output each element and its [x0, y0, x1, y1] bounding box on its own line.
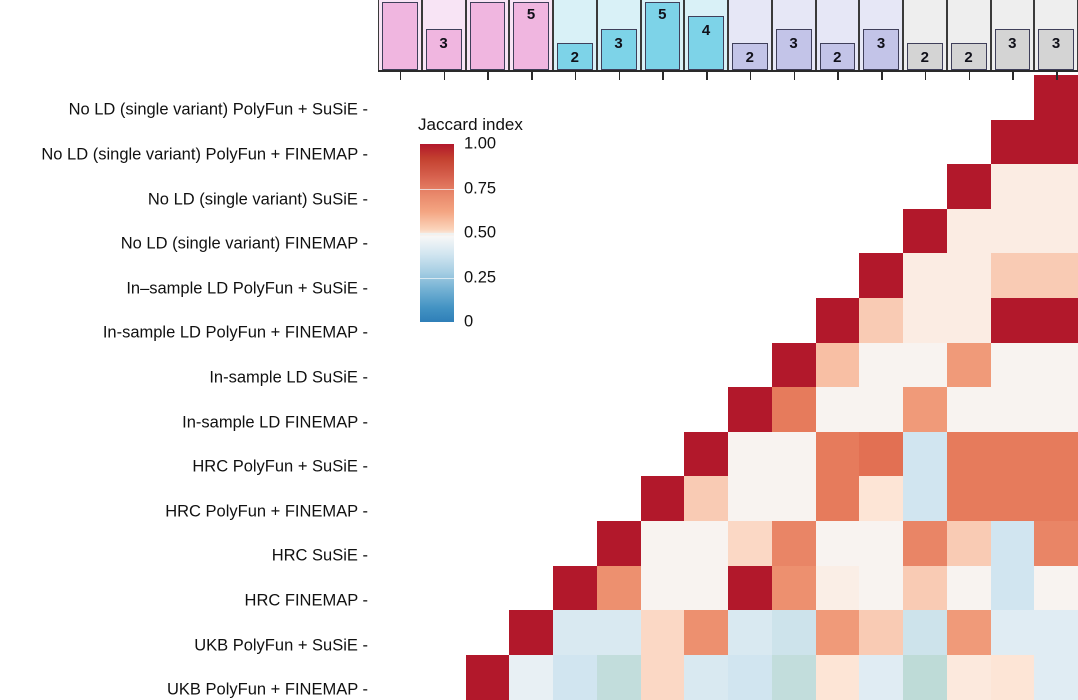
y-axis-label-dash: -: [358, 145, 368, 163]
heatmap-cell: [816, 298, 860, 343]
bar-column: 2: [728, 0, 772, 70]
y-axis-label-text: UKB PolyFun + FINEMAP: [167, 681, 358, 699]
x-axis-tick: [1056, 71, 1058, 80]
colorbar-tick-label: 0.75: [464, 179, 496, 198]
heatmap-cell: [903, 521, 947, 566]
bar-column: 5: [641, 0, 685, 70]
heatmap-cell: [641, 566, 685, 611]
heatmap-cell: [947, 566, 991, 611]
heatmap-cell: [859, 343, 903, 388]
heatmap-cell: [1034, 120, 1078, 165]
x-axis-tick: [444, 71, 446, 80]
heatmap-cell: [641, 655, 685, 700]
bar-column: 3: [1034, 0, 1078, 70]
heatmap-cell: [772, 343, 816, 388]
heatmap-cell: [728, 610, 772, 655]
y-axis-labels: No LD (single variant) PolyFun + SuSiE -…: [0, 75, 372, 700]
heatmap-cell: [903, 610, 947, 655]
y-axis-label-dash: -: [358, 636, 368, 654]
colorbar-tick-label: 1.00: [464, 135, 496, 154]
heatmap-cell: [728, 387, 772, 432]
heatmap-cell: [947, 343, 991, 388]
y-axis-label-dash: -: [358, 413, 368, 431]
heatmap-cell: [903, 298, 947, 343]
y-axis-label-dash: -: [358, 502, 368, 520]
heatmap-cell: [991, 387, 1035, 432]
y-axis-label-text: HRC FINEMAP: [245, 591, 358, 609]
y-axis-label-text: UKB PolyFun + SuSiE: [194, 636, 358, 654]
bar: [382, 2, 418, 70]
heatmap-cell: [903, 387, 947, 432]
heatmap-cell: [728, 566, 772, 611]
heatmap-cell: [1034, 387, 1078, 432]
y-axis-label-dash: -: [358, 279, 368, 297]
heatmap-cell: [947, 253, 991, 298]
bar-column: 2: [903, 0, 947, 70]
y-axis-label-dash: -: [358, 547, 368, 565]
bar-column: 3: [991, 0, 1035, 70]
heatmap-cell: [553, 610, 597, 655]
bar: 2: [907, 43, 943, 70]
bar-value-label: 3: [877, 36, 886, 51]
y-axis-label-dash: -: [358, 190, 368, 208]
bar: 3: [776, 29, 812, 70]
x-axis-tick: [794, 71, 796, 80]
heatmap-cell: [859, 298, 903, 343]
bar-value-label: 3: [1052, 36, 1061, 51]
heatmap-cell: [1034, 432, 1078, 477]
heatmap-cell: [816, 655, 860, 700]
bar-value-label: 2: [921, 50, 930, 65]
bar: 2: [732, 43, 768, 70]
heatmap-cell: [728, 476, 772, 521]
heatmap-cell: [947, 298, 991, 343]
y-axis-label: No LD (single variant) PolyFun + FINEMAP…: [41, 145, 368, 164]
bar-value-label: 4: [702, 23, 711, 38]
x-axis-tick: [575, 71, 577, 80]
bar-value-label: 3: [1008, 36, 1017, 51]
heatmap-cell: [903, 343, 947, 388]
heatmap-cell: [1034, 209, 1078, 254]
y-axis-label: In-sample LD FINEMAP -: [182, 413, 368, 432]
y-axis-label: UKB PolyFun + FINEMAP -: [167, 681, 368, 700]
heatmap-cell: [509, 610, 553, 655]
x-axis-tick: [881, 71, 883, 80]
bar-column: 2: [947, 0, 991, 70]
upset-jaccard-figure: 35235423232233 No LD (single variant) Po…: [0, 0, 1078, 700]
y-axis-label: In–sample LD PolyFun + SuSiE -: [126, 279, 368, 298]
bar: 3: [601, 29, 637, 70]
heatmap-cell: [991, 120, 1035, 165]
y-axis-label-dash: -: [358, 368, 368, 386]
bar-value-label: 3: [789, 36, 798, 51]
x-axis-tick: [487, 71, 489, 80]
heatmap-cell: [859, 610, 903, 655]
heatmap-cell: [947, 655, 991, 700]
heatmap-cell: [991, 521, 1035, 566]
y-axis-label-text: HRC PolyFun + SuSiE: [192, 458, 358, 476]
heatmap-cell: [641, 521, 685, 566]
x-axis-tick: [837, 71, 839, 80]
heatmap-cell: [947, 164, 991, 209]
bar-column: 5: [509, 0, 553, 70]
bar: 5: [513, 2, 549, 70]
heatmap-cell: [772, 610, 816, 655]
heatmap-cell: [816, 521, 860, 566]
heatmap-cell: [947, 387, 991, 432]
heatmap-cell: [947, 521, 991, 566]
y-axis-label: HRC SuSiE -: [272, 547, 368, 566]
x-axis-tick: [400, 71, 402, 80]
y-axis-label-dash: -: [358, 591, 368, 609]
heatmap-cell: [772, 655, 816, 700]
heatmap-cell: [772, 387, 816, 432]
heatmap-cell: [1034, 253, 1078, 298]
heatmap-cell: [684, 655, 728, 700]
bar: 3: [426, 29, 462, 70]
heatmap-cell: [597, 610, 641, 655]
y-axis-label: UKB PolyFun + SuSiE -: [194, 636, 368, 655]
top-bar-chart: 35235423232233: [378, 0, 1078, 70]
bar-value-label: 2: [833, 50, 842, 65]
heatmap-cell: [684, 432, 728, 477]
heatmap-cell: [991, 343, 1035, 388]
heatmap-cell: [1034, 164, 1078, 209]
heatmap-cell: [991, 164, 1035, 209]
heatmap-cell: [728, 432, 772, 477]
heatmap-cell: [772, 476, 816, 521]
heatmap-cell: [816, 610, 860, 655]
bar-value-label: 3: [614, 36, 623, 51]
heatmap-cell: [816, 432, 860, 477]
heatmap-cell: [1034, 610, 1078, 655]
y-axis-label-text: In-sample LD SuSiE: [209, 368, 358, 386]
x-axis-tick: [969, 71, 971, 80]
heatmap-cell: [859, 476, 903, 521]
x-axis-tick: [925, 71, 927, 80]
heatmap-cell: [903, 655, 947, 700]
heatmap-cell: [728, 521, 772, 566]
heatmap-cell: [1034, 343, 1078, 388]
y-axis-label-text: No LD (single variant) SuSiE: [148, 190, 358, 208]
heatmap-cell: [1034, 476, 1078, 521]
y-axis-label: HRC PolyFun + FINEMAP -: [165, 502, 368, 521]
heatmap-cell: [1034, 566, 1078, 611]
y-axis-label: In-sample LD PolyFun + FINEMAP -: [103, 324, 368, 343]
colorbar-tick-label: 0.25: [464, 268, 496, 287]
heatmap-cell: [772, 566, 816, 611]
y-axis-label-text: No LD (single variant) FINEMAP: [121, 235, 358, 253]
heatmap-cell: [991, 298, 1035, 343]
x-axis-line: [378, 70, 1078, 72]
legend-title: Jaccard index: [418, 115, 523, 135]
heatmap-cell: [991, 209, 1035, 254]
bar: 3: [995, 29, 1031, 70]
y-axis-label: No LD (single variant) PolyFun + SuSiE -: [69, 101, 368, 120]
bar-value-label: 5: [658, 7, 667, 22]
heatmap-cell: [684, 521, 728, 566]
y-axis-label-dash: -: [358, 101, 368, 119]
bar: [470, 2, 506, 70]
bar: 2: [820, 43, 856, 70]
heatmap-cell: [509, 655, 553, 700]
heatmap-cell: [991, 655, 1035, 700]
colorbar-tick-label: 0.50: [464, 224, 496, 243]
heatmap-cell: [859, 655, 903, 700]
y-axis-label-text: No LD (single variant) PolyFun + SuSiE: [69, 101, 358, 119]
bar-column: 3: [859, 0, 903, 70]
bar: 3: [1038, 29, 1074, 70]
heatmap-cell: [903, 209, 947, 254]
heatmap-cell: [816, 343, 860, 388]
bar-column: 4: [684, 0, 728, 70]
heatmap-cell: [903, 476, 947, 521]
heatmap-cell: [597, 655, 641, 700]
heatmap-cell: [816, 566, 860, 611]
x-axis-tick: [1012, 71, 1014, 80]
x-axis-tick: [706, 71, 708, 80]
heatmap-cell: [684, 476, 728, 521]
y-axis-label-text: HRC PolyFun + FINEMAP: [165, 502, 358, 520]
heatmap-cell: [991, 610, 1035, 655]
y-axis-label-text: In-sample LD PolyFun + FINEMAP: [103, 324, 358, 342]
y-axis-label-dash: -: [358, 235, 368, 253]
y-axis-label-text: In–sample LD PolyFun + SuSiE: [126, 279, 358, 297]
heatmap-cell: [903, 432, 947, 477]
heatmap-cell: [641, 476, 685, 521]
heatmap-cell: [859, 521, 903, 566]
heatmap-cell: [597, 566, 641, 611]
bar: 2: [557, 43, 593, 70]
bar-column: 2: [553, 0, 597, 70]
bar-column: 3: [597, 0, 641, 70]
bar-value-label: 3: [439, 36, 448, 51]
heatmap-cell: [859, 387, 903, 432]
colorbar-tick-label: 0: [464, 313, 473, 332]
y-axis-label-dash: -: [358, 324, 368, 342]
colorbar-legend: Jaccard index 1.000.750.500.250: [418, 115, 588, 335]
heatmap-cell: [991, 566, 1035, 611]
y-axis-label: No LD (single variant) FINEMAP -: [121, 235, 368, 254]
heatmap-cell: [1034, 655, 1078, 700]
heatmap-cell: [903, 566, 947, 611]
y-axis-label-dash: -: [358, 681, 368, 699]
heatmap-cell: [816, 476, 860, 521]
y-axis-label: No LD (single variant) SuSiE -: [148, 190, 368, 209]
heatmap-cell: [859, 566, 903, 611]
heatmap-cell: [553, 655, 597, 700]
x-axis-tick: [619, 71, 621, 80]
bar-value-label: 2: [571, 50, 580, 65]
heatmap-cell: [991, 432, 1035, 477]
heatmap-cell: [553, 566, 597, 611]
y-axis-label: In-sample LD SuSiE -: [209, 368, 368, 387]
heatmap-cell: [466, 655, 510, 700]
colorbar-gradient: [420, 144, 454, 322]
heatmap-cell: [1034, 521, 1078, 566]
x-axis-tick: [531, 71, 533, 80]
bar: 2: [951, 43, 987, 70]
heatmap-cell: [816, 387, 860, 432]
bar-column: 3: [422, 0, 466, 70]
heatmap-cell: [903, 253, 947, 298]
heatmap-cell: [947, 610, 991, 655]
y-axis-label: HRC FINEMAP -: [245, 591, 368, 610]
heatmap-cell: [684, 610, 728, 655]
bar-column: [466, 0, 510, 70]
y-axis-label: HRC PolyFun + SuSiE -: [192, 458, 368, 477]
bar-column: 2: [816, 0, 860, 70]
heatmap-cell: [1034, 75, 1078, 120]
heatmap-cell: [641, 610, 685, 655]
x-axis-tick: [662, 71, 664, 80]
heatmap-cell: [684, 566, 728, 611]
bar-column: 3: [772, 0, 816, 70]
heatmap-cell: [1034, 298, 1078, 343]
heatmap-cell: [947, 209, 991, 254]
heatmap-cell: [859, 253, 903, 298]
heatmap-cell: [772, 432, 816, 477]
bar-value-label: 2: [746, 50, 755, 65]
y-axis-label-dash: -: [358, 458, 368, 476]
bar: 5: [645, 2, 681, 70]
heatmap-cell: [772, 521, 816, 566]
heatmap-cell: [728, 655, 772, 700]
heatmap-cell: [947, 476, 991, 521]
bar: 3: [863, 29, 899, 70]
heatmap-cell: [597, 521, 641, 566]
y-axis-label-text: No LD (single variant) PolyFun + FINEMAP: [41, 145, 358, 163]
bar: 4: [688, 16, 724, 70]
heatmap-cell: [947, 432, 991, 477]
heatmap-cell: [859, 432, 903, 477]
bar-value-label: 5: [527, 7, 536, 22]
heatmap-cell: [991, 253, 1035, 298]
bar-value-label: 2: [964, 50, 973, 65]
x-axis-tick: [750, 71, 752, 80]
heatmap-cell: [991, 476, 1035, 521]
y-axis-label-text: In-sample LD FINEMAP: [182, 413, 358, 431]
bar-column: [378, 0, 422, 70]
y-axis-label-text: HRC SuSiE: [272, 547, 358, 565]
